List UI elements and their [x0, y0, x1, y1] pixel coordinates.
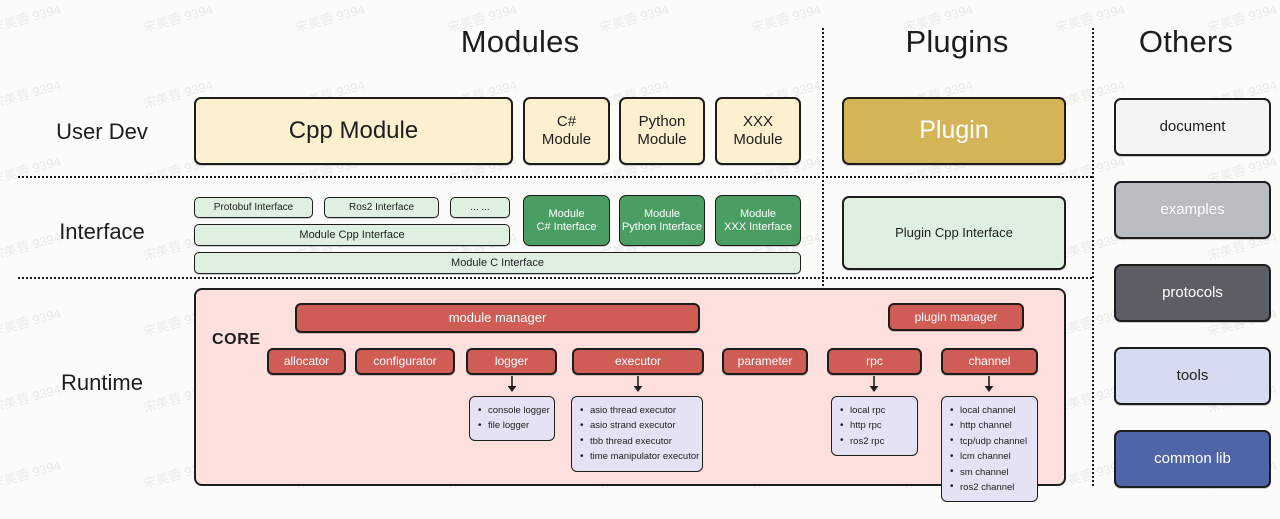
box-common-lib[interactable]: common lib [1114, 430, 1271, 488]
detail-item: tbb thread executor [579, 434, 694, 449]
arrow-logger-down [505, 376, 519, 393]
detail-channel-list: local channelhttp channeltcp/udp channel… [949, 403, 1029, 495]
box-xxx-module[interactable]: XXX Module [715, 97, 801, 165]
box-module-c-interface[interactable]: Module C Interface [194, 252, 801, 274]
arrow-rpc-down [867, 376, 881, 393]
watermark-text: 宋美蓉 9394 [141, 0, 215, 36]
watermark-text: 宋美蓉 9394 [0, 303, 63, 341]
detail-channel[interactable]: local channelhttp channeltcp/udp channel… [941, 396, 1038, 502]
box-logger[interactable]: logger [466, 348, 557, 375]
box-cpp-module[interactable]: Cpp Module [194, 97, 513, 165]
box-plugin[interactable]: Plugin [842, 97, 1066, 165]
row-label-interface: Interface [18, 219, 186, 245]
detail-item: sm channel [949, 465, 1029, 480]
box-parameter[interactable]: parameter [722, 348, 808, 375]
detail-rpc[interactable]: local rpchttp rpcros2 rpc [831, 396, 918, 456]
box-ros2-interface[interactable]: Ros2 Interface [324, 197, 439, 218]
detail-rpc-list: local rpchttp rpcros2 rpc [839, 403, 909, 449]
watermark-text: 宋美蓉 9394 [749, 0, 823, 36]
box-module-csharp-interface[interactable]: Module C# Interface [523, 195, 610, 246]
box-more-interface[interactable]: ... ... [450, 197, 510, 218]
box-protobuf-interface[interactable]: Protobuf Interface [194, 197, 313, 218]
arrow-channel-down [982, 376, 996, 393]
column-header-others: Others [1092, 24, 1280, 60]
box-python-module[interactable]: Python Module [619, 97, 705, 165]
architecture-diagram: 宋美蓉 9394宋美蓉 9394宋美蓉 9394宋美蓉 9394宋美蓉 9394… [0, 0, 1280, 519]
arrow-executor-down [631, 376, 645, 393]
detail-item: asio strand executor [579, 418, 694, 433]
row-label-runtime: Runtime [18, 370, 186, 396]
detail-item: file logger [477, 418, 546, 433]
column-header-plugins: Plugins [822, 24, 1092, 60]
box-configurator[interactable]: configurator [355, 348, 455, 375]
box-document[interactable]: document [1114, 98, 1271, 156]
watermark-text: 宋美蓉 9394 [0, 455, 63, 493]
watermark-text: 宋美蓉 9394 [0, 0, 63, 36]
detail-item: http rpc [839, 418, 909, 433]
box-module-xxx-interface[interactable]: Module XXX Interface [715, 195, 801, 246]
detail-item: time manipulator executor [579, 449, 694, 464]
detail-item: asio thread executor [579, 403, 694, 418]
detail-item: lcm channel [949, 449, 1029, 464]
box-csharp-module[interactable]: C# Module [523, 97, 610, 165]
detail-item: local rpc [839, 403, 909, 418]
detail-logger-list: console loggerfile logger [477, 403, 546, 434]
row-divider-userdev-interface [18, 176, 1092, 178]
box-module-cpp-interface[interactable]: Module Cpp Interface [194, 224, 510, 246]
watermark-text: 宋美蓉 9394 [0, 75, 63, 113]
box-executor[interactable]: executor [572, 348, 704, 375]
detail-item: console logger [477, 403, 546, 418]
row-divider-interface-runtime [18, 277, 1092, 279]
detail-executor-list: asio thread executorasio strand executor… [579, 403, 694, 465]
column-divider-plugins-others [1092, 28, 1094, 486]
detail-executor[interactable]: asio thread executorasio strand executor… [571, 396, 703, 472]
detail-item: ros2 rpc [839, 434, 909, 449]
detail-logger[interactable]: console loggerfile logger [469, 396, 555, 441]
box-module-python-interface[interactable]: Module Python Interface [619, 195, 705, 246]
detail-item: http channel [949, 418, 1029, 433]
box-module-manager[interactable]: module manager [295, 303, 700, 333]
box-tools[interactable]: tools [1114, 347, 1271, 405]
detail-item: local channel [949, 403, 1029, 418]
box-examples[interactable]: examples [1114, 181, 1271, 239]
box-rpc[interactable]: rpc [827, 348, 922, 375]
box-channel[interactable]: channel [941, 348, 1038, 375]
watermark-text: 宋美蓉 9394 [0, 151, 63, 189]
box-plugin-cpp-interface[interactable]: Plugin Cpp Interface [842, 196, 1066, 270]
row-label-user-dev: User Dev [18, 119, 186, 145]
detail-item: tcp/udp channel [949, 434, 1029, 449]
detail-item: ros2 channel [949, 480, 1029, 495]
box-protocols[interactable]: protocols [1114, 264, 1271, 322]
box-plugin-manager[interactable]: plugin manager [888, 303, 1024, 331]
column-header-modules: Modules [300, 24, 740, 60]
core-label: CORE [212, 331, 261, 349]
box-allocator[interactable]: allocator [267, 348, 346, 375]
